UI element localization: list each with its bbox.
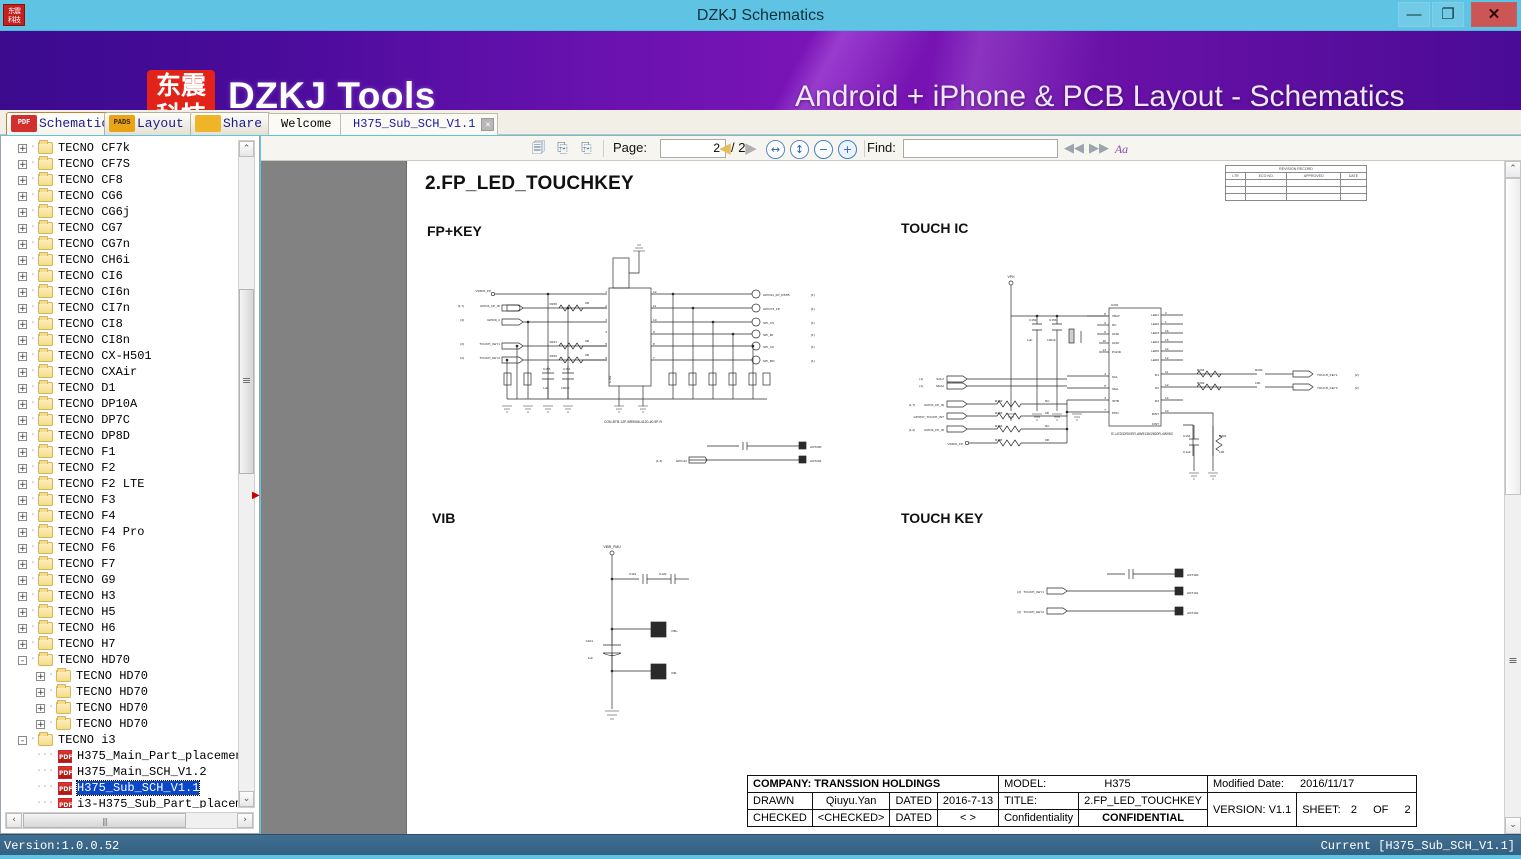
tree-item-folder[interactable]: +··TECNO H5: [2, 604, 238, 620]
svg-text:7: 7: [1104, 408, 1106, 412]
folder-icon: [38, 142, 53, 154]
tree-connector: ··: [30, 524, 38, 540]
tree-connector: ··: [30, 364, 38, 380]
svg-text:GPIO12: GPIO12: [676, 459, 687, 463]
tree-item-pdf[interactable]: ···PDFH375_Main_Part_placement_: [2, 748, 238, 764]
expand-icon[interactable]: +: [18, 384, 27, 393]
copy-page-icon[interactable]: 🗐: [529, 139, 548, 158]
tree-item-folder[interactable]: +··TECNO CF7k: [2, 140, 238, 156]
folder-icon: [56, 686, 71, 698]
svg-text:RINT: RINT: [1152, 412, 1159, 416]
tree-connector: ··: [30, 492, 38, 508]
pdf-file-icon: PDF: [58, 750, 72, 763]
svg-text:[1,7]: [1,7]: [909, 403, 915, 407]
svg-text:GND: GND: [1112, 332, 1120, 336]
tree-item-label: TECNO F2: [58, 461, 116, 475]
scroll-left-icon[interactable]: ‹: [6, 813, 22, 828]
scroll-down-icon[interactable]: ⌄: [239, 791, 254, 807]
svg-text:100nF: 100nF: [1047, 338, 1056, 342]
tree-item-folder[interactable]: +··TECNO CG6: [2, 188, 238, 204]
revision-row: [1226, 194, 1367, 201]
pdf-file-icon: PDF: [58, 798, 72, 809]
svg-text:INTB: INTB: [1112, 399, 1119, 403]
svg-text:[1]: [1]: [811, 345, 815, 349]
svg-text:[2]: [2]: [1018, 590, 1022, 594]
svg-text:[2]: [2]: [461, 356, 465, 360]
svg-text:10: 10: [1103, 339, 1107, 343]
block-label-vib: VIB: [432, 510, 455, 526]
tree-item-folder[interactable]: +··TECNO DP7C: [2, 412, 238, 428]
file-tree[interactable]: +··TECNO CF7k+··TECNO CF7S+··TECNO CF8+·…: [2, 140, 238, 808]
folder-icon: [38, 590, 53, 602]
svg-text:[2]: [2]: [461, 342, 465, 346]
folder-icon: [38, 462, 53, 474]
tree-item-folder[interactable]: +··TECNO F4: [2, 508, 238, 524]
tree-item-label: TECNO CF7k: [58, 141, 130, 155]
tree-item-folder[interactable]: +··TECNO G9: [2, 572, 238, 588]
tree-connector: ··: [30, 412, 38, 428]
tree-item-folder[interactable]: +··TECNO CF7S: [2, 156, 238, 172]
revision-header-approved: APPROVED: [1287, 173, 1341, 180]
confidentiality-label: Confidentiality: [999, 810, 1079, 827]
pdf-file-icon: PDF: [58, 782, 72, 795]
svg-text:GND: GND: [1112, 341, 1120, 345]
tree-horizontal-scrollbar[interactable]: ‹ ›: [5, 812, 254, 829]
tree-item-folder[interactable]: +··TECNO CI6: [2, 268, 238, 284]
folder-share-icon: [195, 115, 221, 132]
expand-icon[interactable]: +: [36, 688, 45, 697]
folder-icon: [38, 526, 53, 538]
svg-text:D1: D1: [1155, 373, 1159, 377]
tree-connector: ··: [30, 604, 38, 620]
maximize-button[interactable]: ❐: [1432, 2, 1464, 27]
tree-item-label: TECNO CXAir: [58, 365, 137, 379]
tree-connector: ··: [30, 508, 38, 524]
tree-item-label: TECNO DP10A: [58, 397, 137, 411]
tree-item-label: TECNO CG7: [58, 221, 123, 235]
svg-text:LED3: LED3: [1151, 331, 1159, 335]
tree-item-folder[interactable]: +··TECNO CX-H501: [2, 348, 238, 364]
tree-item-folder[interactable]: +··TECNO CG6j: [2, 204, 238, 220]
drawn-value: Qiuyu.Yan: [812, 793, 890, 810]
svg-text:[2]: [2]: [1018, 610, 1022, 614]
svg-text:[4]: [4]: [461, 318, 465, 322]
expand-icon[interactable]: +: [18, 512, 27, 521]
svg-text:16: 16: [1165, 329, 1169, 333]
scroll-up-icon[interactable]: ⌃: [239, 141, 254, 157]
tree-item-folder[interactable]: -··TECNO HD70: [2, 652, 238, 668]
tree-connector: ··: [30, 300, 38, 316]
block-label-fpkey: FP+KEY: [427, 223, 482, 239]
svg-text:4: 4: [1104, 372, 1106, 376]
svg-text:C152: C152: [1029, 318, 1037, 322]
tree-vscroll-thumb[interactable]: [239, 289, 254, 474]
expand-icon[interactable]: +: [18, 432, 27, 441]
tree-item-label: H375_Main_Part_placement_: [77, 749, 238, 763]
svg-text:[2]: [2]: [1355, 386, 1359, 390]
folder-icon: [38, 302, 53, 314]
tree-item-folder[interactable]: +··TECNO D1: [2, 380, 238, 396]
svg-text:ANT100: ANT100: [1187, 573, 1199, 577]
modified-date-cell: Modified Date: 2016/11/17: [1207, 776, 1416, 793]
next-view-icon[interactable]: ⎘: [577, 139, 596, 158]
svg-text:TOUCH_KEY1: TOUCH_KEY1: [1023, 590, 1044, 594]
folder-icon: [38, 734, 53, 746]
tree-connector: ··: [30, 636, 38, 652]
expand-icon[interactable]: +: [18, 528, 27, 537]
close-icon[interactable]: ✕: [481, 118, 494, 131]
svg-text:12: 12: [653, 290, 657, 294]
app-banner: 东震 科技 DZKJ Tools Android + iPhone & PCB …: [0, 31, 1521, 110]
folder-icon: [38, 350, 53, 362]
expand-icon[interactable]: +: [18, 208, 27, 217]
svg-text:8: 8: [1104, 312, 1106, 316]
svg-text:1uF: 1uF: [1027, 338, 1032, 342]
tab-welcome-label: Welcome: [281, 117, 331, 131]
minimize-button[interactable]: —: [1398, 2, 1430, 27]
tree-item-folder[interactable]: +··TECNO F6: [2, 540, 238, 556]
match-case-icon[interactable]: Aa: [1112, 140, 1131, 159]
expand-icon[interactable]: +: [36, 704, 45, 713]
logo-line-2: 科技: [147, 101, 215, 110]
expand-icon[interactable]: +: [18, 224, 27, 233]
collapse-icon[interactable]: -: [18, 656, 27, 665]
expand-icon[interactable]: +: [18, 192, 27, 201]
svg-text:ANT102: ANT102: [1187, 611, 1199, 615]
fit-page-button[interactable]: ↕: [790, 140, 809, 159]
svg-text:R154: R154: [995, 424, 1003, 428]
tree-item-folder[interactable]: +··TECNO CG7n: [2, 236, 238, 252]
expand-icon[interactable]: +: [18, 304, 27, 313]
expand-icon[interactable]: +: [18, 272, 27, 281]
checked-label: CHECKED: [748, 810, 813, 827]
expand-icon[interactable]: +: [18, 544, 27, 553]
folder-icon: [56, 718, 71, 730]
tree-item-folder[interactable]: +··TECNO CH6i: [2, 252, 238, 268]
folder-icon: [38, 174, 53, 186]
svg-text:2: 2: [605, 304, 607, 308]
svg-text:11: 11: [1165, 370, 1168, 374]
svg-text:[1,3]: [1,3]: [656, 459, 662, 463]
svg-text:GPIO11_FP_RSTB: GPIO11_FP_RSTB: [763, 293, 790, 297]
svg-text:R151: R151: [550, 340, 558, 344]
expand-icon[interactable]: +: [18, 640, 27, 649]
tree-item-label: TECNO F2 LTE: [58, 477, 144, 491]
folder-icon: [38, 366, 53, 378]
folder-icon: [38, 654, 53, 666]
next-page-button[interactable]: ▶: [742, 140, 760, 158]
pdf-viewer[interactable]: 2.FP_LED_TOUCHKEY FP+KEY TOUCH IC VIB TO…: [261, 161, 1521, 834]
tree-item-label: TECNO CI6n: [58, 285, 130, 299]
svg-text:8: 8: [653, 342, 655, 346]
previous-view-icon[interactable]: ⎘: [553, 139, 572, 158]
toolbar-separator: [603, 140, 604, 157]
sheet-label: SHEET:: [1302, 804, 1341, 816]
scroll-right-icon[interactable]: ›: [237, 813, 253, 828]
schematic-drawing: VDDIO_FP [1,7] GPIO4_FP_ID [4] GPIO9_2 […: [407, 161, 1507, 834]
tree-item-label: TECNO HD70: [76, 701, 148, 715]
tree-item-label: TECNO HD70: [76, 685, 148, 699]
tree-item-folder[interactable]: +··TECNO DP10A: [2, 396, 238, 412]
revision-row: [1226, 180, 1367, 187]
tree-connector: ··: [48, 668, 56, 684]
zoom-in-button[interactable]: +: [838, 140, 857, 159]
tree-connector: ··: [30, 172, 38, 188]
tree-item-label: TECNO D1: [58, 381, 116, 395]
model-value: H375: [1104, 778, 1130, 790]
viewer-scroll-thumb[interactable]: [1505, 178, 1521, 495]
title-block: COMPANY: TRANSSION HOLDINGS MODEL: H375 …: [747, 775, 1417, 827]
tree-item-label: TECNO CX-H501: [58, 349, 152, 363]
tree-item-folder[interactable]: +··TECNO HD70: [2, 684, 238, 700]
tree-item-folder[interactable]: +··TECNO H7: [2, 636, 238, 652]
search-input[interactable]: [903, 139, 1058, 158]
drawn-label: DRAWN: [748, 793, 813, 810]
tree-item-folder[interactable]: +··TECNO CI6n: [2, 284, 238, 300]
svg-text:C151: C151: [1183, 434, 1191, 438]
tree-connector: ···: [36, 796, 58, 808]
expand-icon[interactable]: +: [18, 160, 27, 169]
tree-item-label: H375_Sub_SCH_V1.1: [77, 781, 199, 795]
expand-icon[interactable]: +: [18, 592, 27, 601]
svg-text:1: 1: [605, 290, 607, 294]
svg-text:GPIO4_FP_ID: GPIO4_FP_ID: [480, 304, 501, 308]
folder-icon: [38, 286, 53, 298]
expand-icon[interactable]: +: [18, 320, 27, 329]
tree-item-folder[interactable]: +··TECNO F1: [2, 444, 238, 460]
tree-connector: ··: [30, 188, 38, 204]
folder-icon: [38, 542, 53, 554]
expand-icon[interactable]: +: [18, 576, 27, 585]
scroll-up-icon[interactable]: ⌃: [1505, 161, 1521, 178]
svg-text:[2]: [2]: [1355, 373, 1359, 377]
svg-text:C101: C101: [586, 639, 594, 643]
tree-item-folder[interactable]: +··TECNO HD70: [2, 700, 238, 716]
window-titlebar: 东震科技 DZKJ Schematics — ❐ ✕: [0, 0, 1521, 31]
viewer-toolbar: 🗐 ⎘ ⎘ Page: 2 / 2 ◀ ▶ ↔ ↕ − + Find: ◀◀ ▶…: [261, 136, 1521, 161]
tab-schematic-label: Schematic: [39, 116, 109, 131]
folder-icon: [38, 558, 53, 570]
find-previous-icon[interactable]: ◀◀: [1064, 140, 1083, 159]
tab-h375-sub-sch[interactable]: H375_Sub_SCH_V1.1 ✕: [340, 113, 498, 135]
expand-icon[interactable]: +: [18, 464, 27, 473]
tree-item-folder[interactable]: +··TECNO H6: [2, 620, 238, 636]
sheet-cell: SHEET: 2 OF 2: [1297, 793, 1416, 827]
folder-icon: [38, 270, 53, 282]
tree-item-pdf[interactable]: ···PDFH375_Sub_SCH_V1.1: [2, 780, 238, 796]
collapse-icon[interactable]: -: [18, 736, 27, 745]
tree-item-folder[interactable]: +··TECNO F2: [2, 460, 238, 476]
window-title: DZKJ Schematics: [0, 0, 1521, 31]
expand-icon[interactable]: +: [18, 144, 27, 153]
svg-text:3: 3: [605, 318, 607, 322]
tree-connector: ··: [30, 236, 38, 252]
svg-text:15: 15: [1165, 338, 1169, 342]
revision-record-table: REVISION RECORD LTR ECO NO. APPROVED DAT…: [1225, 165, 1367, 201]
svg-text:R201: R201: [1219, 434, 1227, 438]
tree-item-folder[interactable]: +··TECNO CF8: [2, 172, 238, 188]
svg-text:12: 12: [1165, 356, 1169, 360]
company-cell: COMPANY: TRANSSION HOLDINGS: [748, 776, 999, 793]
expand-icon[interactable]: +: [18, 480, 27, 489]
sheet-value: 2: [1351, 804, 1357, 816]
drawn-dated-value: 2016-7-13: [937, 793, 998, 810]
expand-icon[interactable]: +: [18, 608, 27, 617]
tree-connector: ··: [30, 620, 38, 636]
svg-text:TOUCH_KEY2: TOUCH_KEY2: [479, 356, 500, 360]
tree-connector: ··: [30, 220, 38, 236]
svg-text:0.1uF: 0.1uF: [1183, 450, 1191, 454]
expand-icon[interactable]: +: [18, 416, 27, 425]
tree-connector: ··: [30, 428, 38, 444]
tree-item-label: TECNO CI8n: [58, 333, 130, 347]
expand-icon[interactable]: +: [18, 352, 27, 361]
tree-item-folder[interactable]: +··TECNO HD70: [2, 668, 238, 684]
tree-connector: ···: [36, 780, 58, 796]
folder-icon: [38, 190, 53, 202]
svg-text:LED6: LED6: [1151, 358, 1159, 362]
svg-text:R156: R156: [550, 302, 558, 306]
scroll-down-icon[interactable]: ⌄: [1505, 817, 1521, 834]
tree-item-folder[interactable]: +··TECNO CI8: [2, 316, 238, 332]
tree-item-label: TECNO F1: [58, 445, 116, 459]
status-version: Version:1.0.0.52: [4, 839, 119, 853]
expand-icon[interactable]: +: [18, 368, 27, 377]
expand-icon[interactable]: +: [18, 496, 27, 505]
tab-share[interactable]: Share: [190, 112, 271, 135]
tab-layout-label: Layout: [137, 116, 184, 131]
tree-vertical-scrollbar[interactable]: ⌃ ⌄: [238, 140, 255, 808]
tab-strip: PDF Schematic PADS Layout Share Welcome …: [0, 110, 1521, 135]
expand-icon[interactable]: +: [18, 448, 27, 457]
svg-text:SPI_MI: SPI_MI: [763, 333, 773, 337]
expand-icon[interactable]: +: [18, 624, 27, 633]
svg-text:C153: C153: [1049, 318, 1057, 322]
previous-page-button[interactable]: ◀: [716, 140, 734, 158]
svg-text:LED5: LED5: [1151, 349, 1159, 353]
svg-text:6: 6: [605, 356, 607, 360]
tree-item-folder[interactable]: +··TECNO DP8D: [2, 428, 238, 444]
block-label-touch-ic: TOUCH IC: [901, 220, 968, 236]
banner-title: DZKJ Tools: [228, 75, 436, 110]
tree-item-folder[interactable]: +··TECNO F7: [2, 556, 238, 572]
tree-item-folder[interactable]: +··TECNO CI8n: [2, 332, 238, 348]
tree-item-folder[interactable]: +··TECNO F2 LTE: [2, 476, 238, 492]
folder-icon: [38, 382, 53, 394]
expand-icon[interactable]: +: [18, 256, 27, 265]
tree-item-pdf[interactable]: ···PDFi3-H375_Sub_Part_placemen: [2, 796, 238, 808]
viewer-scroll-grip[interactable]: ≡: [1505, 654, 1521, 668]
tree-item-folder[interactable]: +··TECNO HD70: [2, 716, 238, 732]
svg-text:ANT204: ANT204: [810, 459, 822, 463]
zoom-out-button[interactable]: −: [814, 140, 833, 159]
panel-splitter-handle[interactable]: ▶: [252, 485, 260, 507]
tree-connector: ··: [30, 572, 38, 588]
svg-text:C119: C119: [629, 572, 636, 576]
svg-text:R202: R202: [1197, 381, 1205, 385]
folder-icon: [38, 158, 53, 170]
pdf-icon: PDF: [11, 115, 37, 132]
svg-text:SCL2: SCL2: [936, 377, 944, 381]
svg-text:SPI_MO: SPI_MO: [763, 359, 775, 363]
tree-connector: ··: [30, 476, 38, 492]
svg-text:[1]: [1]: [811, 321, 815, 325]
tree-item-folder[interactable]: -··TECNO i3: [2, 732, 238, 748]
file-tree-panel: +··TECNO CF7k+··TECNO CF7S+··TECNO CF8+·…: [0, 136, 260, 834]
expand-icon[interactable]: +: [36, 672, 45, 681]
expand-icon[interactable]: +: [36, 720, 45, 729]
expand-icon[interactable]: +: [18, 400, 27, 409]
svg-text:SCL: SCL: [1112, 375, 1118, 379]
svg-text:VIB-: VIB-: [671, 671, 677, 675]
svg-text:7: 7: [653, 356, 655, 360]
tree-connector: ··: [48, 700, 56, 716]
tree-item-label: TECNO F7: [58, 557, 116, 571]
folder-icon: [38, 398, 53, 410]
tree-connector: ··: [48, 684, 56, 700]
svg-text:ANT101: ANT101: [1187, 591, 1199, 595]
folder-icon: [38, 606, 53, 618]
tree-item-label: TECNO H5: [58, 605, 116, 619]
expand-icon[interactable]: +: [18, 176, 27, 185]
tab-schematic[interactable]: PDF Schematic: [6, 112, 118, 135]
tree-item-label: TECNO CI7n: [58, 301, 130, 315]
svg-text:IC-LED/DRIVER-AW9136/2820R-4W0: IC-LED/DRIVER-AW9136/2820R-4W05C: [1111, 432, 1174, 436]
svg-text:C155: C155: [543, 367, 551, 371]
tree-item-label: TECNO F3: [58, 493, 116, 507]
tree-connector: ··: [30, 140, 38, 156]
tree-item-folder[interactable]: +··TECNO F4 Pro: [2, 524, 238, 540]
svg-text:9: 9: [653, 330, 655, 334]
svg-text:12: 12: [1165, 383, 1169, 387]
revision-header-ltr: LTR: [1226, 173, 1246, 180]
find-next-icon[interactable]: ▶▶: [1089, 140, 1108, 159]
svg-text:GPIO57_TOUCH_INT: GPIO57_TOUCH_INT: [913, 415, 944, 419]
tree-item-folder[interactable]: +··TECNO CXAir: [2, 364, 238, 380]
dzkj-logo: 东震 科技: [147, 70, 215, 110]
expand-icon[interactable]: +: [18, 336, 27, 345]
version-cell: VERSION: V1.1: [1207, 793, 1296, 827]
block-label-touch-key: TOUCH KEY: [901, 510, 983, 526]
folder-icon: [56, 702, 71, 714]
tab-welcome[interactable]: Welcome: [268, 113, 344, 135]
tree-item-folder[interactable]: +··TECNO H3: [2, 588, 238, 604]
confidentiality-value: CONFIDENTIAL: [1079, 810, 1208, 827]
tree-item-label: TECNO H3: [58, 589, 116, 603]
model-label: MODEL:: [1004, 778, 1046, 790]
tree-connector: ··: [30, 652, 38, 668]
tab-layout[interactable]: PADS Layout: [104, 112, 193, 135]
expand-icon[interactable]: +: [18, 560, 27, 569]
expand-icon[interactable]: +: [18, 288, 27, 297]
fit-width-button[interactable]: ↔: [766, 140, 785, 159]
svg-text:9: 9: [1104, 321, 1106, 325]
svg-text:VIBR_PMU: VIBR_PMU: [603, 545, 621, 549]
tree-item-folder[interactable]: +··TECNO F3: [2, 492, 238, 508]
tree-item-folder[interactable]: +··TECNO CG7: [2, 220, 238, 236]
tree-item-folder[interactable]: +··TECNO CI7n: [2, 300, 238, 316]
close-button[interactable]: ✕: [1471, 2, 1517, 27]
expand-icon[interactable]: +: [18, 240, 27, 249]
svg-text:R150: R150: [550, 354, 558, 358]
svg-text:PGND: PGND: [1112, 350, 1122, 354]
viewer-vertical-scrollbar[interactable]: ⌃ ≡ ⌄: [1504, 161, 1521, 834]
svg-text:[1]: [1]: [920, 377, 924, 381]
tree-hscroll-thumb[interactable]: [23, 813, 186, 828]
svg-text:[1]: [1]: [811, 307, 815, 311]
svg-text:13: 13: [1103, 348, 1107, 352]
tree-item-pdf[interactable]: ···PDFH375_Main_SCH_V1.2: [2, 764, 238, 780]
